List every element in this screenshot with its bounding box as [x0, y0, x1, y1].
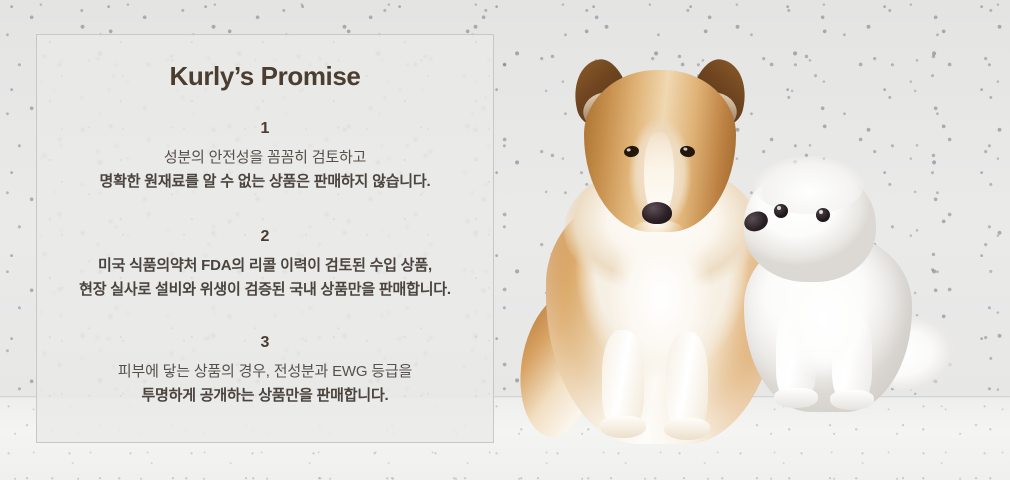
- bichon-frise: [728, 160, 968, 410]
- promise-number-3: 3: [37, 334, 493, 352]
- bichon-eye-right: [816, 208, 830, 222]
- promise-item-3: 3 피부에 닿는 상품의 경우, 전성분과 EWG 등급을 투명하게 공개하는 …: [37, 334, 493, 408]
- promise-2-line-1: 미국 식품의약처 FDA의 리콜 이력이 검토된 수입 상품,: [37, 254, 493, 278]
- bichon-eye-left: [774, 204, 788, 218]
- promise-3-line-2: 투명하게 공개하는 상품만을 판매합니다.: [37, 384, 493, 408]
- promise-number-2: 2: [37, 228, 493, 246]
- sheltie-paw-left: [600, 416, 646, 438]
- bichon-chest: [774, 278, 878, 398]
- sheltie-paw-right: [664, 418, 710, 440]
- promise-1-line-1: 성분의 안전성을 꼼꼼히 검토하고: [37, 146, 493, 170]
- sheltie-front-leg-left: [602, 330, 644, 430]
- kurly-promise-card: Kurly’s Promise 1 성분의 안전성을 꼼꼼히 검토하고 명확한 …: [36, 34, 494, 443]
- dogs-photo: [498, 0, 1010, 480]
- promotional-banner: Kurly’s Promise 1 성분의 안전성을 꼼꼼히 검토하고 명확한 …: [0, 0, 1010, 480]
- promise-2-line-2: 현장 실사로 설비와 위생이 검증된 국내 상품만을 판매합니다.: [37, 278, 493, 302]
- promise-number-1: 1: [37, 120, 493, 138]
- page-title: Kurly’s Promise: [169, 62, 360, 91]
- promise-item-1: 1 성분의 안전성을 꼼꼼히 검토하고 명확한 원재료를 알 수 없는 상품은 …: [37, 120, 493, 194]
- sheltie-nose: [642, 202, 672, 224]
- sheltie-front-leg-right: [666, 332, 708, 432]
- promise-1-line-2: 명확한 원재료를 알 수 없는 상품은 판매하지 않습니다.: [37, 170, 493, 194]
- bichon-crown-fur: [754, 156, 864, 214]
- promise-item-2: 2 미국 식품의약처 FDA의 리콜 이력이 검토된 수입 상품, 현장 실사로…: [37, 228, 493, 302]
- promise-3-line-1: 피부에 닿는 상품의 경우, 전성분과 EWG 등급을: [37, 360, 493, 384]
